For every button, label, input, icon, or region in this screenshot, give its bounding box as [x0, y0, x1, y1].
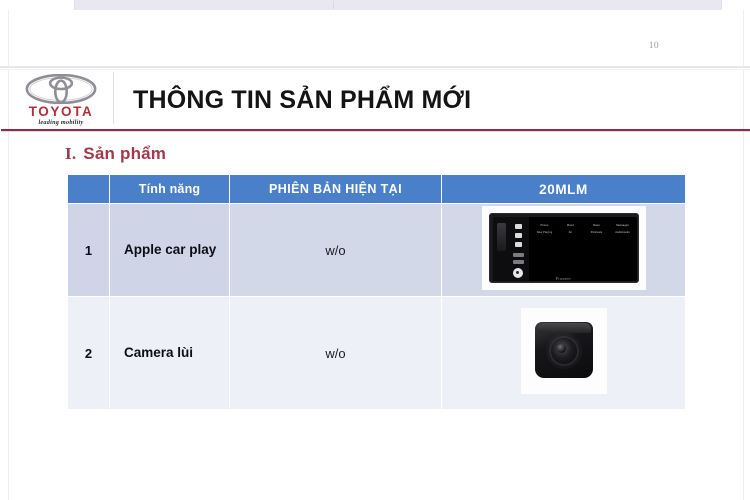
- head-unit-bezel: Phone Music: [493, 217, 637, 281]
- table-row: 1 Apple car play w/o: [68, 204, 686, 297]
- table-row: 2 Camera lùi w/o: [68, 297, 686, 410]
- pioneer-carplay-head-unit-image: Phone Music: [482, 206, 646, 290]
- page-gap-area: 10: [8, 10, 744, 66]
- row-feature: Apple car play: [110, 204, 230, 297]
- column-header-new: 20MLM: [442, 175, 686, 204]
- table-header: Tính năng PHIÊN BẢN HIỆN TẠI 20MLM: [68, 175, 686, 204]
- toyota-logo: TOYOTA leading mobility: [19, 74, 103, 128]
- row-index: 2: [68, 297, 110, 410]
- row-current-version: w/o: [230, 204, 442, 297]
- header-accent-rule-soft: [1, 131, 750, 132]
- carplay-app-label: Air: [560, 231, 582, 234]
- toyota-emblem-icon: [24, 74, 98, 104]
- row-new-version-image: [442, 297, 686, 410]
- slide-header: TOYOTA leading mobility THÔNG TIN SẢN PH…: [9, 70, 743, 130]
- column-header-feature: Tính năng: [110, 175, 230, 204]
- header-vertical-divider: [113, 72, 114, 124]
- head-unit-screen: Phone Music: [529, 217, 637, 281]
- carplay-app-label: Music: [560, 224, 582, 227]
- carplay-app-grid: Phone Music: [534, 223, 634, 234]
- volume-knob-icon: [497, 223, 506, 251]
- section-label: Sản phẩm: [83, 144, 166, 163]
- carplay-app-label: Maps: [586, 224, 608, 227]
- row-feature: Camera lùi: [110, 297, 230, 410]
- section-numeral: I.: [65, 144, 76, 163]
- page-title: THÔNG TIN SẢN PHẨM MỚI: [133, 86, 471, 115]
- carplay-app: Phone: [534, 223, 556, 227]
- column-header-current: PHIÊN BẢN HIỆN TẠI: [230, 175, 442, 204]
- column-header-index: [68, 175, 110, 204]
- section-heading: I.Sản phẩm: [65, 144, 166, 164]
- carplay-app-label: Messages: [612, 224, 634, 227]
- table-body: 1 Apple car play w/o: [68, 204, 686, 410]
- camera-body: [535, 322, 593, 378]
- toyota-wordmark: TOYOTA: [19, 105, 103, 118]
- carplay-app: Air: [560, 230, 582, 234]
- track-forward-button-icon: [513, 260, 524, 264]
- table-header-row: Tính năng PHIÊN BẢN HIỆN TẠI 20MLM: [68, 175, 686, 204]
- carplay-app-label: Now Playing: [534, 231, 556, 234]
- carplay-app-label: Phone: [534, 224, 556, 227]
- home-button-icon: [513, 268, 523, 278]
- carplay-app-label: Podcasts: [586, 231, 608, 234]
- row-new-version-image: Phone Music: [442, 204, 686, 297]
- slide-separator-rule: [0, 66, 750, 68]
- head-unit-control-column: [493, 217, 529, 281]
- row-index: 1: [68, 204, 110, 297]
- camera-top-bracket: [537, 323, 591, 333]
- head-unit-body: Phone Music: [489, 213, 639, 283]
- carplay-app: Podcasts: [586, 230, 608, 234]
- slide-card: TOYOTA leading mobility THÔNG TIN SẢN PH…: [8, 70, 744, 500]
- preset-button-2-icon: [515, 233, 522, 238]
- carplay-app: Maps: [586, 223, 608, 227]
- track-back-button-icon: [513, 253, 524, 257]
- preset-button-3-icon: [515, 242, 522, 247]
- carplay-app: Audiobooks: [612, 230, 634, 234]
- carplay-app: Messages: [612, 223, 634, 227]
- carplay-app: Music: [560, 223, 582, 227]
- carplay-app: Now Playing: [534, 230, 556, 234]
- camera-lens-icon: [551, 338, 577, 364]
- pioneer-brand-label: Pioneer: [556, 276, 572, 281]
- carplay-app-label: Audiobooks: [612, 231, 634, 234]
- page-number: 10: [649, 41, 659, 51]
- product-comparison-table: Tính năng PHIÊN BẢN HIỆN TẠI 20MLM 1 App…: [67, 174, 686, 410]
- toyota-tagline: leading mobility: [19, 119, 103, 126]
- slide-root: 10 TOYOTA leading mobility THÔNG TIN SẢN…: [0, 0, 750, 500]
- previous-slide-remnant: [74, 0, 722, 10]
- row-current-version: w/o: [230, 297, 442, 410]
- preset-button-1-icon: [515, 224, 522, 229]
- reverse-camera-image: [521, 308, 607, 394]
